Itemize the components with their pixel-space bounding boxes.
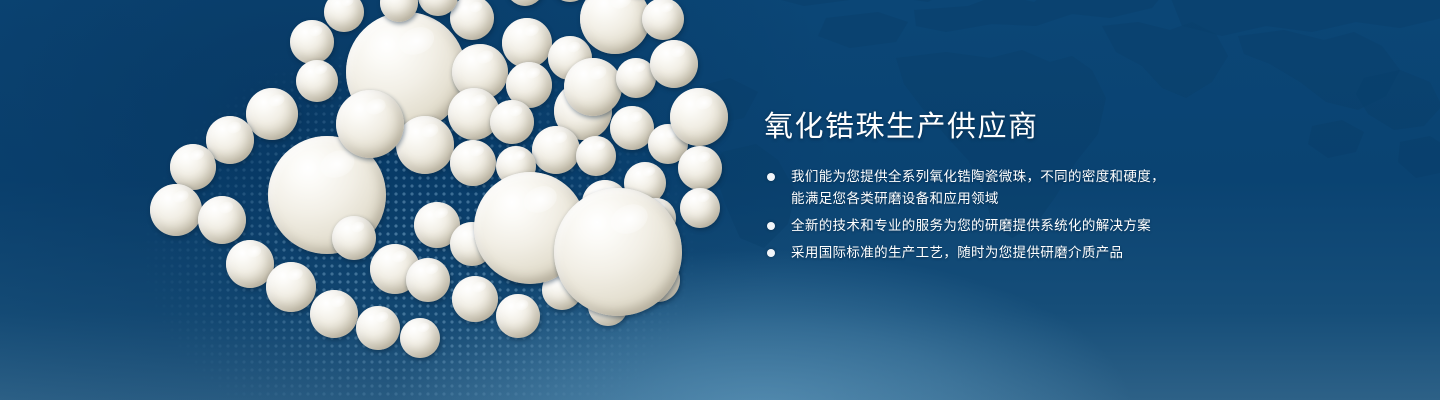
bullet-line-1: 我们能为您提供全系列氧化锆陶瓷微珠，不同的密度和硬度， — [791, 169, 1165, 185]
page-title: 氧化锆珠生产供应商 — [764, 108, 1324, 144]
list-item: 采用国际标准的生产工艺，随时为您提供研磨介质产品 — [764, 242, 1324, 264]
bullet-dot-icon — [767, 249, 775, 257]
hero-banner: 氧化锆珠生产供应商 我们能为您提供全系列氧化锆陶瓷微珠，不同的密度和硬度， 能满… — [0, 0, 1440, 400]
bullet-text: 采用国际标准的生产工艺，随时为您提供研磨介质产品 — [791, 245, 1123, 261]
halftone-dot-pattern — [90, 0, 710, 400]
product-image-zirconia-beads — [150, 0, 750, 400]
bullet-dot-icon — [767, 222, 775, 230]
list-item: 全新的技术和专业的服务为您的研磨提供系统化的解决方案 — [764, 215, 1324, 237]
banner-copy: 氧化锆珠生产供应商 我们能为您提供全系列氧化锆陶瓷微珠，不同的密度和硬度， 能满… — [764, 108, 1324, 269]
list-item: 我们能为您提供全系列氧化锆陶瓷微珠，不同的密度和硬度， 能满足您各类研磨设备和应… — [764, 166, 1324, 210]
bullet-line-2: 能满足您各类研磨设备和应用领域 — [791, 188, 1324, 210]
bullet-text: 我们能为您提供全系列氧化锆陶瓷微珠，不同的密度和硬度， 能满足您各类研磨设备和应… — [791, 169, 1324, 210]
bullet-text: 全新的技术和专业的服务为您的研磨提供系统化的解决方案 — [791, 218, 1151, 234]
feature-bullet-list: 我们能为您提供全系列氧化锆陶瓷微珠，不同的密度和硬度， 能满足您各类研磨设备和应… — [764, 166, 1324, 264]
bullet-dot-icon — [767, 173, 775, 181]
